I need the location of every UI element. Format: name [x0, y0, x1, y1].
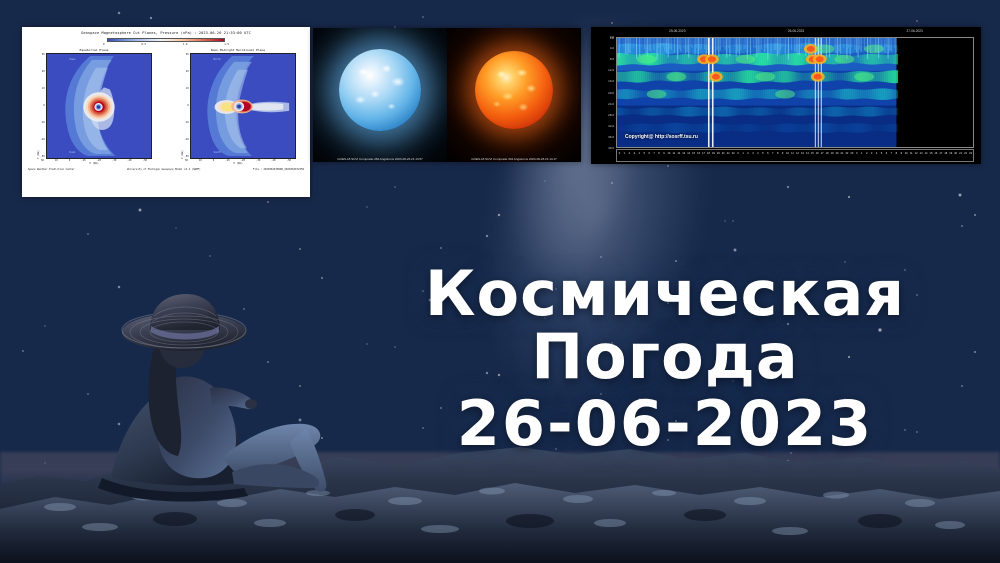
hour-tick-label: 9 — [663, 152, 664, 155]
hour-tick-label: 8 — [896, 152, 897, 155]
xtick: 50 — [41, 159, 44, 162]
poster-canvas: Geospace Magnetosphere Cut Planes, Press… — [0, 0, 1000, 563]
hour-tick-label: 18 — [707, 152, 710, 155]
hour-tick-label: 14 — [806, 152, 809, 155]
hour-tick-label: 9 — [901, 152, 902, 155]
hour-tick-label: 17 — [702, 152, 705, 155]
hour-tick-label: 3 — [752, 152, 753, 155]
hour-tick-label: 17 — [821, 152, 824, 155]
xtick: -50 — [287, 159, 291, 162]
spectrogram-copyright: Copyright@ http://sosrff.tsu.ru — [625, 134, 698, 140]
ytick: 0 — [184, 104, 188, 107]
magnetosphere-title: Geospace Magnetosphere Cut Planes, Press… — [22, 31, 310, 35]
hour-tick-label: 15 — [692, 152, 695, 155]
hour-tick-label: 22 — [845, 152, 848, 155]
ytick: 20 — [184, 70, 188, 73]
ytick: -20 — [184, 138, 188, 141]
horizon-glow — [0, 452, 1000, 492]
hour-tick-label: 5 — [643, 152, 644, 155]
meridional-ylabel: Z (Re) — [180, 53, 184, 159]
frequency-tick-label: 24.0 — [608, 102, 614, 106]
footer-agency: Space Weather Prediction Center — [28, 168, 75, 171]
hour-tick-label: 14 — [925, 152, 928, 155]
spectrogram-plot-area: Copyright@ http://sosrff.tsu.ru — [616, 37, 974, 148]
hour-tick-label: 18 — [944, 152, 947, 155]
hour-tick-label: 14 — [687, 152, 690, 155]
hour-tick-label: 4 — [876, 152, 877, 155]
xtick: 10 — [199, 159, 202, 162]
hour-tick-label: 18 — [826, 152, 829, 155]
frequency-tick-label: 12.0 — [608, 68, 614, 72]
hour-tick-label: 22 — [964, 152, 967, 155]
colorbar-tick-3: 1.5 — [224, 43, 229, 46]
equatorial-corner-top: Dawn — [70, 58, 76, 61]
hour-tick-label: 1 — [624, 152, 625, 155]
hour-tick-label: 6 — [886, 152, 887, 155]
hour-tick-label: 6 — [767, 152, 768, 155]
hour-tick-label: 13 — [682, 152, 685, 155]
hour-tick-label: 16 — [934, 152, 937, 155]
spectrogram-y-axis: Hz 0.04.08.012.016.020.024.028.032.036.0… — [594, 37, 616, 148]
hour-tick-label: 11 — [673, 152, 676, 155]
hour-tick-label: 2 — [629, 152, 630, 155]
xtick: -10 — [81, 159, 85, 162]
magnetosphere-footer: Space Weather Prediction Center Universi… — [22, 168, 310, 171]
frequency-tick-label: 20.0 — [608, 91, 614, 95]
hour-tick-label: 0 — [856, 152, 857, 155]
spectrogram-date-label: 26-06-2023 — [788, 29, 804, 33]
hour-tick-label: 21 — [841, 152, 844, 155]
poster-title-line2: 26-06-2023 — [330, 390, 1000, 458]
xtick: -50 — [143, 159, 147, 162]
suvi-284-caption: GOES-18 SUVI Composite 284 Angstroms 202… — [313, 157, 447, 161]
meridional-plane-subplot: Noon-Midnight Meridional Plane Z (Re) 50… — [180, 48, 295, 166]
colorbar-gradient — [107, 38, 225, 42]
hour-tick-label: 22 — [727, 152, 730, 155]
hour-tick-label: 1 — [742, 152, 743, 155]
sun-disk-304 — [475, 51, 553, 129]
ytick: -50 — [184, 155, 188, 158]
pressure-colorbar: 0 0.5 1.0 1.5 — [22, 38, 310, 46]
woman-silhouette — [92, 282, 382, 532]
poster-title-line1: Космическая Погода — [330, 262, 1000, 388]
frequency-tick-label: 16.0 — [608, 79, 614, 83]
ytick: 20 — [40, 70, 44, 73]
colorbar-ticks: 0 0.5 1.0 1.5 — [103, 43, 229, 46]
poster-title: Космическая Погода 26-06-2023 — [330, 262, 1000, 459]
hour-tick-label: 11 — [791, 152, 794, 155]
hour-tick-label: 3 — [634, 152, 635, 155]
hour-tick-label: 23 — [732, 152, 735, 155]
hour-tick-label: 10 — [905, 152, 908, 155]
hour-tick-label: 20 — [836, 152, 839, 155]
spectrogram-hour-axis: 0123456789101112131415161718192021222301… — [616, 149, 974, 162]
hour-tick-label: 0 — [737, 152, 738, 155]
equatorial-corner-bottom: Dusk — [70, 151, 76, 154]
ytick: -50 — [40, 155, 44, 158]
spectrogram-date-label: 25-06-2023 — [669, 29, 685, 33]
equatorial-plane-title: Equatorial Plane — [80, 48, 109, 52]
hour-tick-label: 13 — [920, 152, 923, 155]
colorbar-tick-2: 1.0 — [183, 43, 188, 46]
ytick: 50 — [184, 53, 188, 56]
colorbar-tick-0: 0 — [103, 43, 105, 46]
hour-tick-label: 6 — [648, 152, 649, 155]
hour-tick-label: 19 — [949, 152, 952, 155]
sun-disk-284 — [339, 49, 421, 131]
frequency-tick-label: 40.0 — [608, 146, 614, 150]
suvi-304-caption: GOES-18 SUVI Composite 304 Angstroms 202… — [447, 157, 581, 161]
meridional-xlabel: X (Re) — [233, 162, 242, 165]
hour-tick-label: 21 — [959, 152, 962, 155]
frequency-tick-label: 8.0 — [610, 57, 614, 61]
hour-tick-label: 19 — [712, 152, 715, 155]
ytick: 10 — [40, 87, 44, 90]
xtick: -10 — [225, 159, 229, 162]
xtick: 0 — [69, 159, 70, 162]
magnetosphere-subplots: Equatorial Plane Y (Re) 50 20 10 0 -10 -… — [22, 48, 310, 166]
hour-tick-label: 23 — [969, 152, 972, 155]
spectrogram-date-label: 27-06-2023 — [907, 29, 923, 33]
magnetosphere-plot-panel: Geospace Magnetosphere Cut Planes, Press… — [22, 27, 310, 197]
ytick: 50 — [40, 53, 44, 56]
hour-tick-label: 9 — [782, 152, 783, 155]
equatorial-plane-subplot: Equatorial Plane Y (Re) 50 20 10 0 -10 -… — [36, 48, 151, 166]
hour-tick-label: 7 — [653, 152, 654, 155]
frequency-tick-label: 0.0 — [610, 35, 614, 39]
hour-tick-label: 2 — [747, 152, 748, 155]
hour-tick-label: 21 — [722, 152, 725, 155]
hour-tick-label: 10 — [786, 152, 789, 155]
footer-file: File : 20230626T0000_20230626T2359 — [253, 168, 304, 171]
hour-tick-label: 12 — [915, 152, 918, 155]
frequency-tick-label: 36.0 — [608, 135, 614, 139]
frequency-tick-label: 32.0 — [608, 124, 614, 128]
ytick: -10 — [184, 121, 188, 124]
hour-tick-label: 7 — [891, 152, 892, 155]
ytick: -10 — [40, 121, 44, 124]
suvi-solar-images-panel: GOES-18 SUVI Composite 284 Angstroms 202… — [313, 28, 581, 162]
colorbar-tick-1: 0.5 — [141, 43, 146, 46]
xtick: -30 — [256, 159, 260, 162]
xtick: 0 — [213, 159, 214, 162]
footer-model: University of Michigan Geospace Model v2… — [127, 168, 201, 171]
equatorial-plane-canvas: Dawn Dusk — [46, 53, 152, 159]
hour-tick-label: 15 — [930, 152, 933, 155]
hour-tick-label: 1 — [861, 152, 862, 155]
xtick: -30 — [112, 159, 116, 162]
hour-tick-label: 16 — [697, 152, 700, 155]
schumann-spectrogram-panel: 25-06-202326-06-202327-06-2023 Hz 0.04.0… — [591, 27, 981, 164]
xtick: 10 — [55, 159, 58, 162]
hour-tick-label: 3 — [871, 152, 872, 155]
equatorial-ylabel: Y (Re) — [36, 53, 40, 159]
hour-tick-label: 8 — [777, 152, 778, 155]
xtick: 50 — [185, 159, 188, 162]
hour-tick-label: 12 — [796, 152, 799, 155]
hour-tick-label: 17 — [939, 152, 942, 155]
ytick: 10 — [184, 87, 188, 90]
ytick: -20 — [40, 138, 44, 141]
hour-tick-label: 16 — [816, 152, 819, 155]
hour-tick-label: 5 — [762, 152, 763, 155]
sea-band — [0, 487, 1000, 531]
suvi-284-image: GOES-18 SUVI Composite 284 Angstroms 202… — [313, 28, 447, 162]
hour-tick-label: 23 — [850, 152, 853, 155]
meridional-corner-top: North — [214, 58, 221, 61]
xtick: -40 — [127, 159, 131, 162]
frequency-tick-label: 4.0 — [610, 46, 614, 50]
spectrogram-date-header: 25-06-202326-06-202327-06-2023 — [618, 29, 974, 37]
hour-tick-label: 4 — [639, 152, 640, 155]
meridional-plane-title: Noon-Midnight Meridional Plane — [211, 48, 265, 52]
meridional-plane-canvas: North South — [190, 53, 296, 159]
hour-tick-label: 10 — [667, 152, 670, 155]
hour-tick-label: 7 — [772, 152, 773, 155]
equatorial-xlabel: X (Re) — [89, 162, 98, 165]
hour-tick-label: 15 — [811, 152, 814, 155]
meridional-corner-bottom: South — [214, 151, 221, 154]
hour-tick-label: 8 — [658, 152, 659, 155]
hour-tick-label: 20 — [717, 152, 720, 155]
hour-tick-label: 2 — [866, 152, 867, 155]
hour-tick-label: 0 — [619, 152, 620, 155]
rocky-foreground — [0, 423, 1000, 563]
hour-tick-label: 11 — [910, 152, 913, 155]
suvi-304-image: GOES-18 SUVI Composite 304 Angstroms 202… — [447, 28, 581, 162]
hour-tick-label: 12 — [677, 152, 680, 155]
hour-tick-label: 4 — [757, 152, 758, 155]
ytick: 0 — [40, 104, 44, 107]
frequency-tick-label: 28.0 — [608, 113, 614, 117]
hour-tick-label: 19 — [831, 152, 834, 155]
hour-tick-label: 5 — [881, 152, 882, 155]
hour-tick-label: 20 — [954, 152, 957, 155]
xtick: -40 — [271, 159, 275, 162]
hour-tick-label: 13 — [801, 152, 804, 155]
